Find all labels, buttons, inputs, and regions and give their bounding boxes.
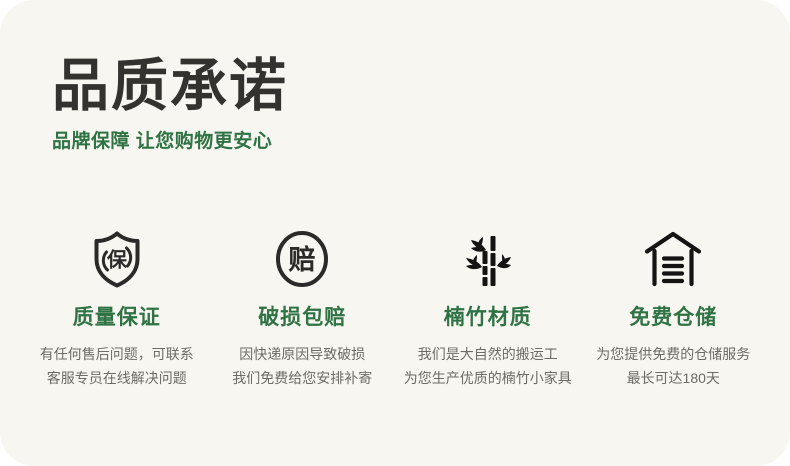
banner-header: 品质承诺 品牌保障 让您购物更安心 (52, 58, 288, 151)
feature-desc-storage: 为您提供免费的仓储服务 最长可达180天 (596, 342, 750, 390)
feature-desc-material: 我们是大自然的搬运工 为您生产优质的楠竹小家具 (404, 342, 572, 390)
shield-bao-icon: 保 (86, 228, 148, 290)
circle-icon-glyph: 赔 (289, 245, 316, 276)
feature-desc-line: 因快递原因导致破损 (232, 342, 372, 366)
feature-item-material: 楠竹材质 我们是大自然的搬运工 为您生产优质的楠竹小家具 (395, 228, 581, 390)
feature-list: 保 质量保证 有任何售后问题，可联系 客服专员在线解决问题 赔 破损包赔 因快递… (0, 228, 790, 390)
feature-desc-line: 有任何售后问题，可联系 (40, 342, 194, 366)
quality-promise-banner: 品质承诺 品牌保障 让您购物更安心 保 质量保证 有任何售后问题，可联系 客服专… (0, 0, 790, 466)
warehouse-icon (642, 228, 704, 290)
feature-desc-compensation: 因快递原因导致破损 我们免费给您安排补寄 (232, 342, 372, 390)
page-title: 品质承诺 (52, 58, 288, 115)
feature-item-quality: 保 质量保证 有任何售后问题，可联系 客服专员在线解决问题 (24, 228, 210, 390)
page-subtitle: 品牌保障 让您购物更安心 (52, 132, 288, 151)
feature-desc-line: 我们是大自然的搬运工 (404, 342, 572, 366)
feature-item-compensation: 赔 破损包赔 因快递原因导致破损 我们免费给您安排补寄 (210, 228, 396, 390)
feature-title-quality: 质量保证 (73, 307, 161, 328)
feature-desc-line: 为您提供免费的仓储服务 (596, 342, 750, 366)
bamboo-icon (457, 228, 519, 290)
feature-desc-line: 客服专员在线解决问题 (40, 366, 194, 390)
feature-desc-quality: 有任何售后问题，可联系 客服专员在线解决问题 (40, 342, 194, 390)
feature-desc-line: 我们免费给您安排补寄 (232, 366, 372, 390)
feature-desc-line: 最长可达180天 (596, 366, 750, 390)
feature-item-storage: 免费仓储 为您提供免费的仓储服务 最长可达180天 (581, 228, 767, 390)
feature-desc-line: 为您生产优质的楠竹小家具 (404, 366, 572, 390)
circle-pei-icon: 赔 (271, 228, 333, 290)
feature-title-material: 楠竹材质 (444, 307, 532, 328)
shield-icon-glyph: 保 (106, 248, 128, 272)
feature-title-compensation: 破损包赔 (258, 307, 346, 328)
feature-title-storage: 免费仓储 (629, 307, 717, 328)
